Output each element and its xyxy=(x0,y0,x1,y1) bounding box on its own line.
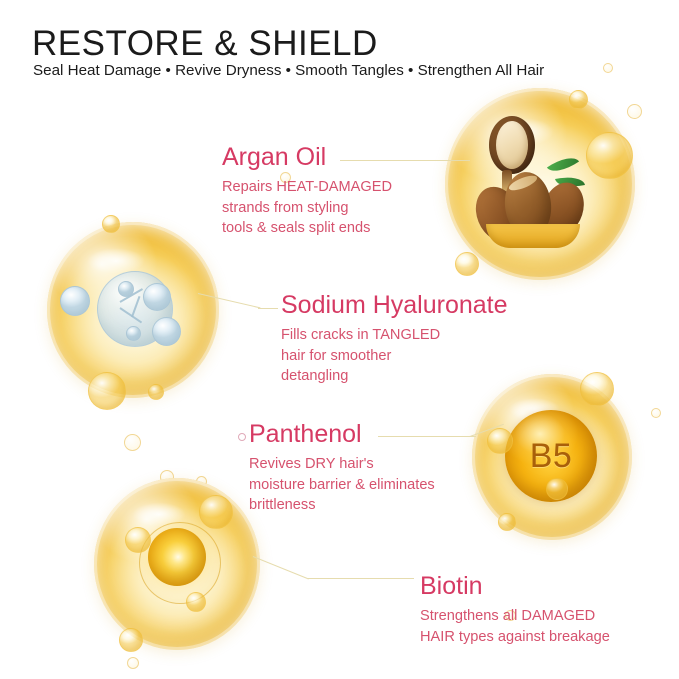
glow-core-inner-icon xyxy=(148,528,206,586)
connector-biotin-2 xyxy=(308,578,414,579)
ingredient-description: Revives DRY hair's moisture barrier & el… xyxy=(249,454,435,516)
bubble-icon xyxy=(102,215,120,233)
description-line: Strengthens all DAMAGED xyxy=(420,606,610,627)
description-line: tools & seals split ends xyxy=(222,218,392,239)
description-line: hair for smoother xyxy=(281,346,508,367)
bubble-icon xyxy=(498,513,516,531)
ingredient-title: Biotin xyxy=(420,574,610,599)
bubble-icon xyxy=(455,252,479,276)
bubble-icon xyxy=(580,372,614,406)
connector-biotin xyxy=(253,556,309,579)
bubble-icon xyxy=(569,90,588,109)
bubble-icon xyxy=(127,657,139,669)
bubble-icon xyxy=(199,495,233,529)
ingredient-block-sodium-hyaluronate: Sodium Hyaluronate Fills cracks in TANGL… xyxy=(281,293,508,387)
panthenol-bullet-icon xyxy=(238,433,246,441)
ingredient-title: Panthenol xyxy=(249,422,435,447)
ingredient-description: Repairs HEAT-DAMAGED strands from stylin… xyxy=(222,177,392,239)
ingredient-description: Strengthens all DAMAGED HAIR types again… xyxy=(420,606,610,647)
description-line: HAIR types against breakage xyxy=(420,627,610,648)
bubble-icon xyxy=(148,384,164,400)
ingredient-block-argan-oil: Argan Oil Repairs HEAT-DAMAGED strands f… xyxy=(222,145,392,239)
bubble-icon xyxy=(124,434,141,451)
bubble-icon xyxy=(586,132,633,179)
description-line: detangling xyxy=(281,366,508,387)
bubble-icon xyxy=(627,104,642,119)
bubble-icon xyxy=(651,408,661,418)
connector-sodium-hyaluronate-2 xyxy=(258,308,278,309)
bubble-icon xyxy=(487,428,513,454)
ingredient-block-panthenol: Panthenol Revives DRY hair's moisture ba… xyxy=(249,422,435,516)
description-line: Fills cracks in TANGLED xyxy=(281,325,508,346)
ingredient-description: Fills cracks in TANGLED hair for smoothe… xyxy=(281,325,508,387)
bubble-icon xyxy=(603,63,613,73)
page-title: RESTORE & SHIELD xyxy=(32,24,378,64)
b5-label: B5 xyxy=(530,437,573,476)
product-benefits-poster: RESTORE & SHIELD Seal Heat Damage • Revi… xyxy=(0,0,679,679)
description-line: strands from styling xyxy=(222,198,392,219)
description-line: moisture barrier & eliminates xyxy=(249,475,435,496)
description-line: Revives DRY hair's xyxy=(249,454,435,475)
ingredient-block-biotin: Biotin Strengthens all DAMAGED HAIR type… xyxy=(420,574,610,647)
ingredient-title: Sodium Hyaluronate xyxy=(281,293,508,318)
bubble-icon xyxy=(546,478,568,500)
bubble-icon xyxy=(186,592,206,612)
page-subtitle: Seal Heat Damage • Revive Dryness • Smoo… xyxy=(33,62,544,79)
description-line: brittleness xyxy=(249,495,435,516)
bubble-icon xyxy=(125,527,151,553)
bubble-icon xyxy=(88,372,126,410)
bubble-icon xyxy=(119,628,143,652)
description-line: Repairs HEAT-DAMAGED xyxy=(222,177,392,198)
ingredient-title: Argan Oil xyxy=(222,145,392,170)
